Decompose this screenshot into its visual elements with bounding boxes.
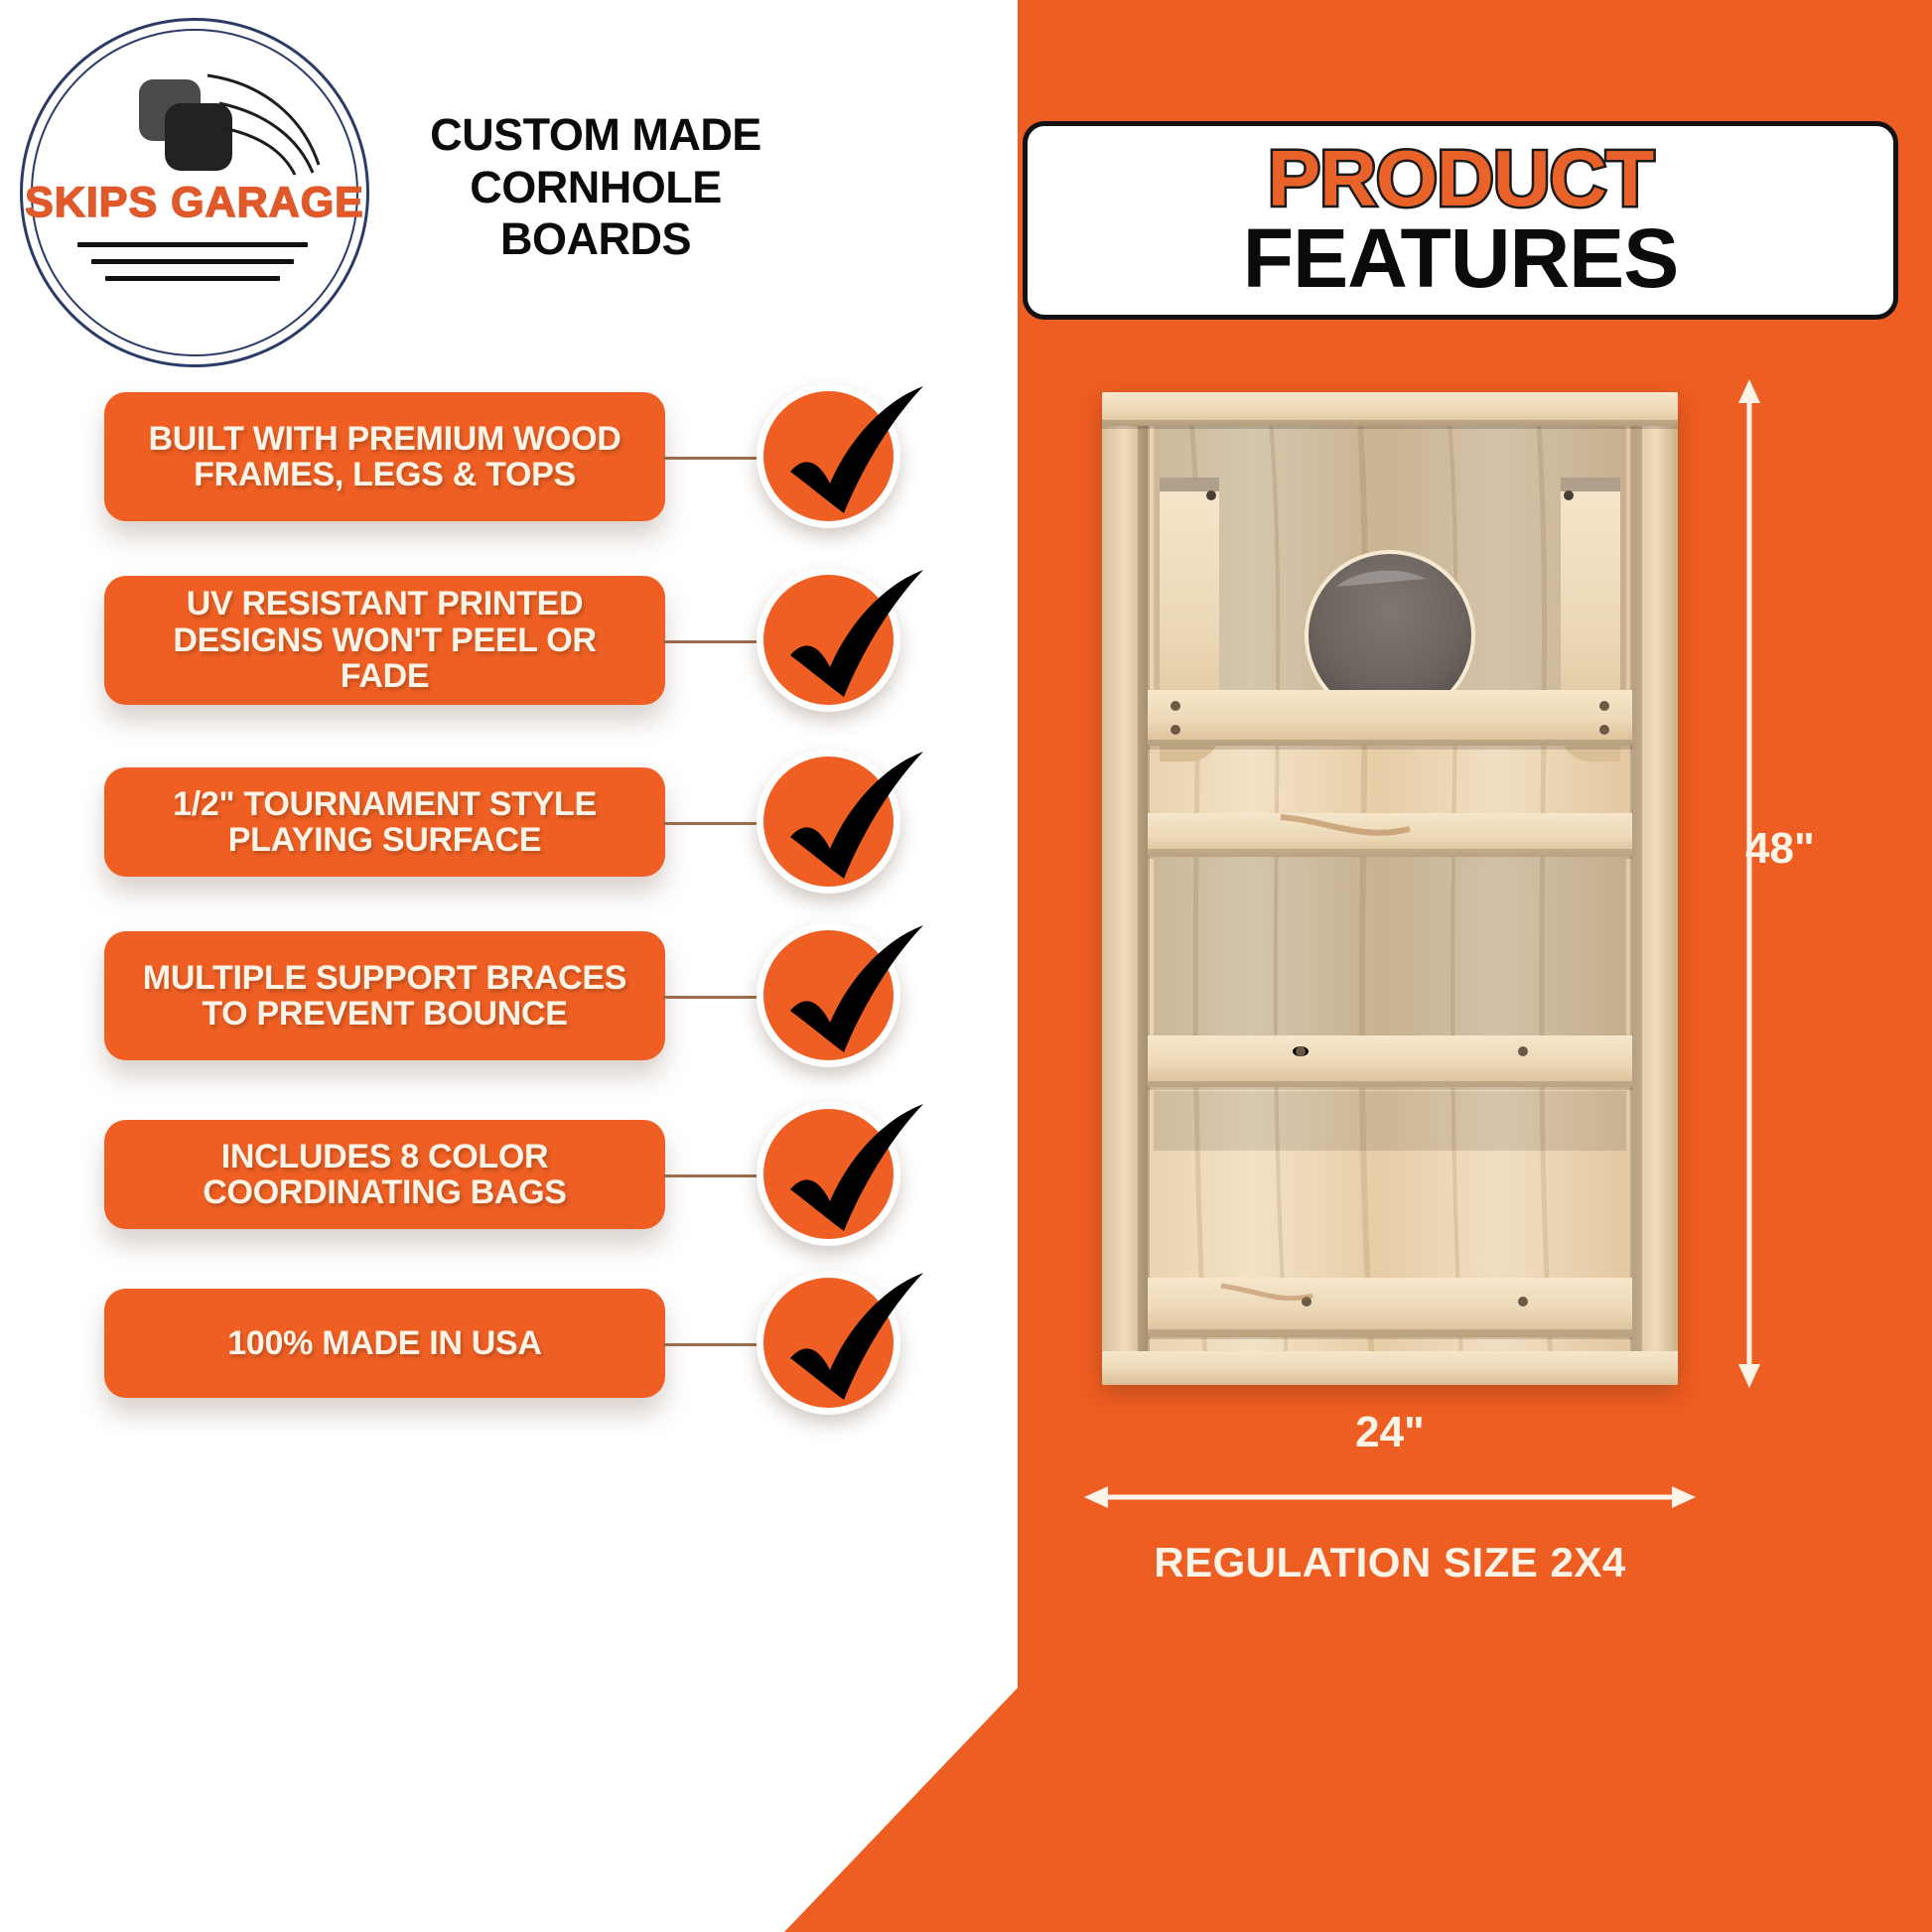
feature-list: BUILT WITH PREMIUM WOOD FRAMES, LEGS & T… [0, 377, 1013, 1817]
width-dimension-arrow [1082, 1477, 1698, 1517]
product-panel: 48" 24" REGULATION SIZE 2X4 [1023, 357, 1932, 1932]
brand-logo[interactable]: SKIPS GARAGE [20, 18, 369, 367]
headline-line-1: CUSTOM MADE [387, 109, 804, 162]
motion-arcs-icon [204, 69, 333, 179]
width-label: 24" [1082, 1408, 1698, 1457]
height-label: 48" [1745, 824, 1815, 874]
regulation-size-text: REGULATION SIZE 2X4 [1033, 1539, 1747, 1587]
connector-line [663, 996, 762, 999]
check-badge[interactable] [757, 923, 900, 1067]
logo-bar-3 [105, 276, 280, 281]
feature-row: 100% MADE IN USA [0, 1281, 1013, 1430]
feature-pill-playing-surface[interactable]: 1/2" TOURNAMENT STYLE PLAYING SURFACE [104, 767, 665, 877]
headline-line-2: CORNHOLE [387, 162, 804, 214]
banner-word-product: PRODUCT [1268, 141, 1654, 216]
logo-bar-2 [91, 259, 294, 264]
feature-pill-uv-resistant[interactable]: UV RESISTANT PRINTED DESIGNS WON'T PEEL … [104, 576, 665, 705]
page-title: CUSTOM MADE CORNHOLE BOARDS [387, 109, 804, 266]
connector-line [663, 822, 762, 825]
feature-row: MULTIPLE SUPPORT BRACES TO PREVENT BOUNC… [0, 931, 1013, 1080]
check-badge[interactable] [757, 1271, 900, 1415]
height-dimension-arrow [1708, 377, 1827, 1390]
check-icon [753, 890, 941, 1078]
feature-row: 1/2" TOURNAMENT STYLE PLAYING SURFACE [0, 759, 1013, 908]
feature-pill-support-braces[interactable]: MULTIPLE SUPPORT BRACES TO PREVENT BOUNC… [104, 931, 665, 1060]
headline-line-3: BOARDS [387, 213, 804, 266]
banner-word-features: FEATURES [1243, 218, 1678, 299]
header: SKIPS GARAGE CUSTOM MADE CORNHOLE BOARDS… [0, 0, 1932, 397]
feature-row: UV RESISTANT PRINTED DESIGNS WON'T PEEL … [0, 576, 1013, 725]
check-icon [753, 1068, 941, 1257]
cornhole-board-photo [1102, 392, 1678, 1385]
check-icon [753, 1237, 941, 1426]
check-badge[interactable] [757, 568, 900, 712]
feature-pill-premium-wood[interactable]: BUILT WITH PREMIUM WOOD FRAMES, LEGS & T… [104, 392, 665, 521]
logo-wordmark: SKIPS GARAGE [20, 179, 369, 227]
feature-row: BUILT WITH PREMIUM WOOD FRAMES, LEGS & T… [0, 392, 1013, 541]
check-badge[interactable] [757, 750, 900, 894]
check-badge[interactable] [757, 384, 900, 528]
product-features-banner: PRODUCT FEATURES [1023, 121, 1898, 320]
feature-pill-made-in-usa[interactable]: 100% MADE IN USA [104, 1289, 665, 1398]
connector-line [663, 640, 762, 643]
check-icon [753, 716, 941, 904]
logo-bar-1 [77, 242, 308, 247]
check-icon [753, 534, 941, 723]
connector-line [663, 457, 762, 460]
feature-pill-included-bags[interactable]: INCLUDES 8 COLOR COORDINATING BAGS [104, 1120, 665, 1229]
connector-line [663, 1174, 762, 1177]
check-badge[interactable] [757, 1102, 900, 1246]
connector-line [663, 1343, 762, 1346]
